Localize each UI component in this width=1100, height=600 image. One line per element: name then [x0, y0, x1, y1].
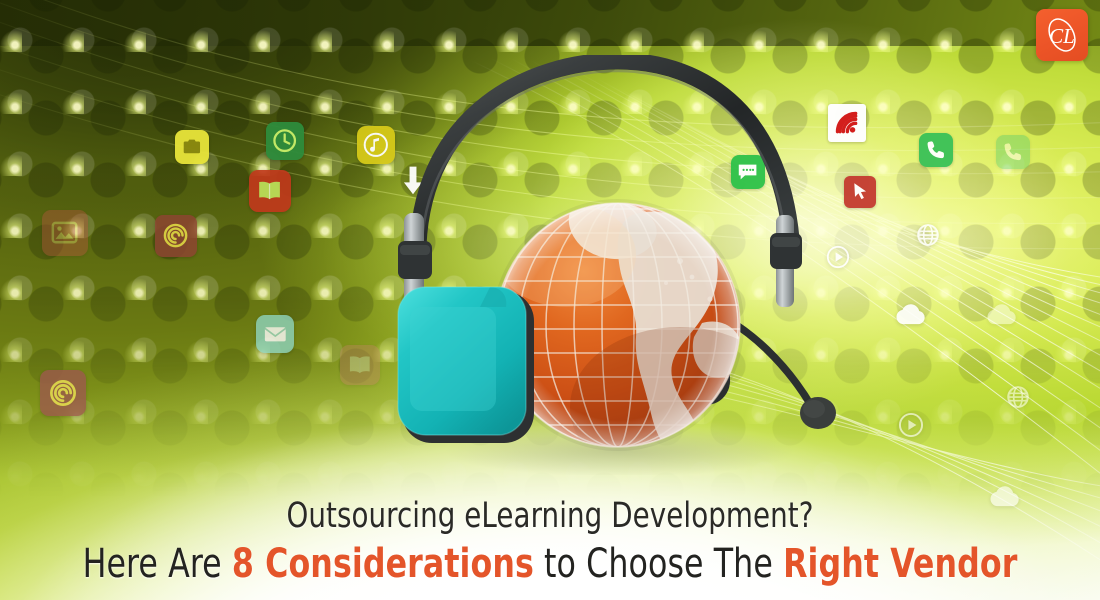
commlab-india-logo[interactable]: CL [1036, 9, 1088, 61]
teal-earcup-left [398, 287, 534, 443]
cloud-icon-faded [985, 296, 1019, 330]
phone-icon [919, 133, 953, 167]
envelope-icon [256, 315, 294, 353]
photos-icon [42, 210, 88, 256]
camera-icon [175, 130, 209, 164]
clock-icon [266, 122, 304, 160]
logo-text: CL [1049, 24, 1075, 48]
headline-part-c: to Choose The [534, 541, 783, 587]
spiral-icon-lower [40, 370, 86, 416]
phone-icon-faded [996, 135, 1030, 169]
rss-spiral-icon [155, 215, 197, 257]
logo-cl-mark: CL [1040, 13, 1084, 57]
cloud-icon [894, 296, 928, 330]
headline-highlight-vendor: Right Vendor [783, 541, 1017, 587]
globe-wire-icon-2 [1005, 384, 1031, 410]
headline-block: Outsourcing eLearning Development? Here … [0, 496, 1100, 588]
headline-highlight-count: 8 Considerations [232, 541, 534, 587]
headline-part-a: Here Are [83, 541, 232, 587]
book-icon [249, 170, 291, 212]
headset-globe-illustration [380, 55, 850, 475]
banner-root: Outsourcing eLearning Development? Here … [0, 0, 1100, 600]
headline-line-1: Outsourcing eLearning Development? [66, 496, 1034, 537]
headline-line-2: Here Are 8 Considerations to Choose The … [66, 541, 1034, 588]
play-button-icon-2 [898, 412, 924, 438]
globe-wire-icon [915, 222, 941, 248]
book-icon-faded [340, 345, 380, 385]
